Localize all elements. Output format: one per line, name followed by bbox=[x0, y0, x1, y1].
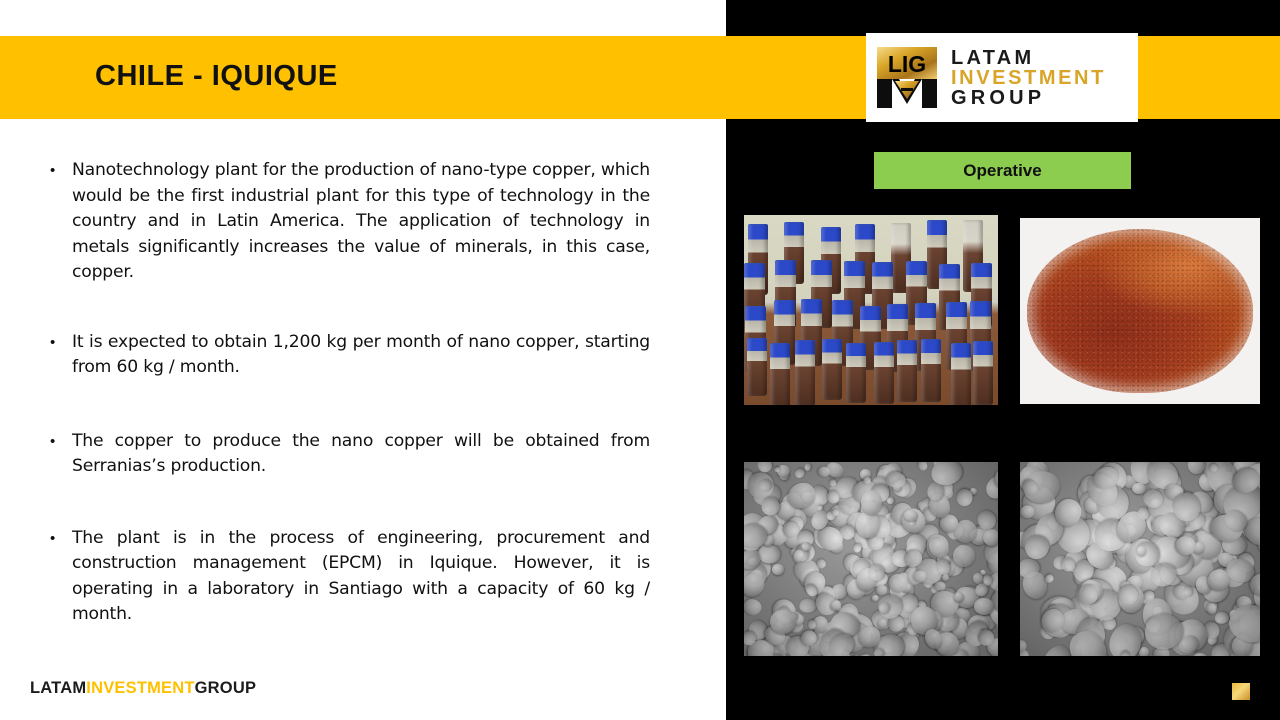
bottle bbox=[951, 343, 971, 405]
bottle bbox=[770, 343, 790, 405]
status-badge-label: Operative bbox=[963, 161, 1041, 181]
sem-vignette bbox=[744, 462, 998, 656]
list-item: • Nanotechnology plant for the productio… bbox=[50, 158, 650, 286]
logo-line-latam: LATAM bbox=[951, 48, 1106, 68]
svg-text:LIG: LIG bbox=[888, 51, 926, 77]
bottle bbox=[747, 338, 767, 397]
logo-line-investment: INVESTMENT bbox=[951, 68, 1106, 88]
footer-group: GROUP bbox=[195, 679, 257, 697]
bottle bbox=[921, 339, 941, 402]
gold-accent-square bbox=[1232, 683, 1250, 700]
lig-monogram-icon: LIG bbox=[875, 44, 942, 111]
bullet-marker-icon: • bbox=[50, 429, 72, 480]
bottle bbox=[897, 340, 917, 401]
sem-vignette bbox=[1020, 462, 1260, 656]
bottle bbox=[822, 339, 842, 401]
company-logo: LIG LATAM INVESTMENT GROUP bbox=[866, 33, 1138, 122]
bullet-text: Nanotechnology plant for the production … bbox=[72, 158, 650, 286]
bullet-text: It is expected to obtain 1,200 kg per mo… bbox=[72, 330, 650, 381]
bullet-list: • Nanotechnology plant for the productio… bbox=[50, 158, 650, 654]
footer-investment: INVESTMENT bbox=[86, 679, 194, 697]
list-item: • The plant is in the process of enginee… bbox=[50, 526, 650, 628]
list-item: • It is expected to obtain 1,200 kg per … bbox=[50, 330, 650, 381]
logo-wordmark: LATAM INVESTMENT GROUP bbox=[951, 48, 1106, 108]
sem-micrograph-left-photo bbox=[744, 462, 998, 656]
bottle bbox=[795, 340, 815, 405]
copper-powder-photo bbox=[1020, 218, 1260, 404]
powder-pile bbox=[1027, 229, 1253, 393]
page-title: CHILE - IQUIQUE bbox=[95, 60, 338, 93]
bottle bbox=[874, 342, 894, 404]
bottle bbox=[846, 343, 866, 403]
bullet-text: The copper to produce the nano copper wi… bbox=[72, 429, 650, 480]
status-badge: Operative bbox=[874, 152, 1131, 189]
sem-micrograph-right-photo bbox=[1020, 462, 1260, 656]
list-item: • The copper to produce the nano copper … bbox=[50, 429, 650, 480]
lab-bottles-photo bbox=[744, 215, 998, 405]
bullet-marker-icon: • bbox=[50, 330, 72, 381]
bullet-marker-icon: • bbox=[50, 158, 72, 286]
bottle bbox=[973, 341, 993, 405]
powder-grain-texture bbox=[1027, 229, 1253, 393]
footer-latam: LATAM bbox=[30, 679, 86, 697]
bullet-text: The plant is in the process of engineeri… bbox=[72, 526, 650, 628]
logo-line-group: GROUP bbox=[951, 88, 1106, 108]
footer-wordmark: LATAMINVESTMENTGROUP bbox=[30, 679, 256, 698]
bullet-marker-icon: • bbox=[50, 526, 72, 628]
